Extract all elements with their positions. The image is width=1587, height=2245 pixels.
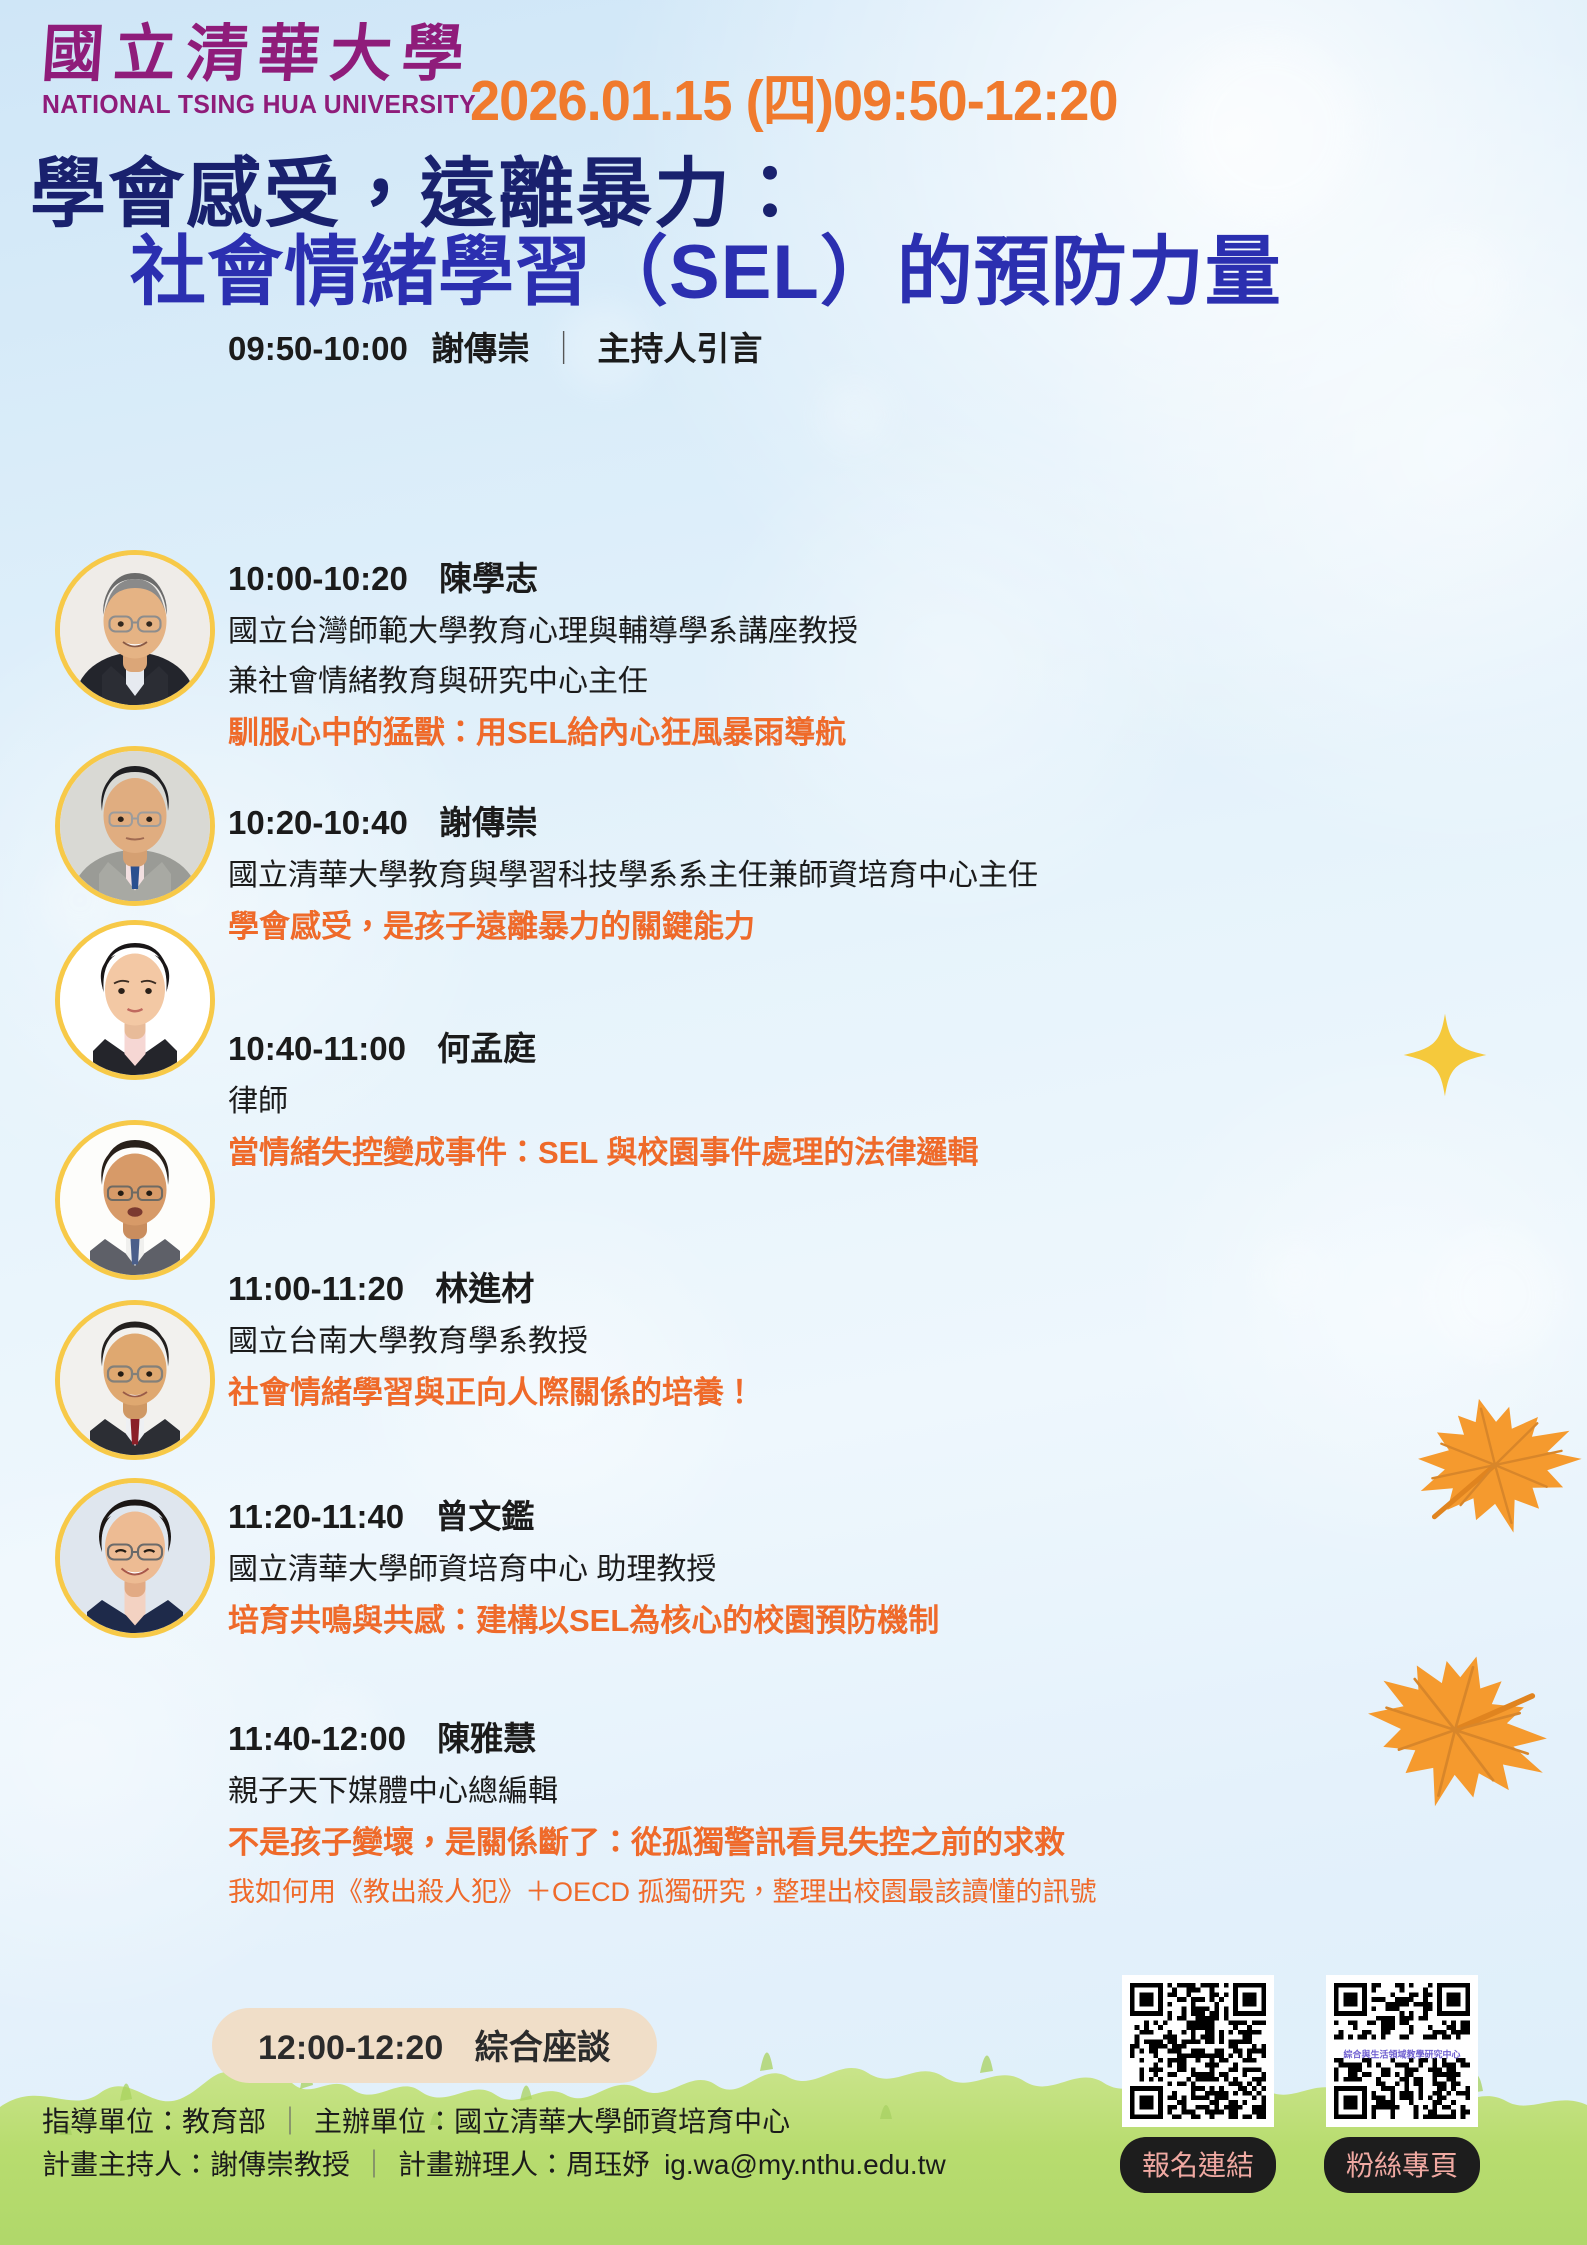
university-logo-english: NATIONAL TSING HUA UNIVERSITY (42, 91, 449, 120)
sparkle-icon (1400, 1010, 1490, 1100)
portrait-tseng-wen-chien (55, 1300, 215, 1460)
session-time: 10:40-11:00 (228, 1030, 406, 1067)
session-text-block: 11:20-11:40 曾文鑑 國立清華大學師資培育中心 助理教授 培育共鳴與共… (228, 1490, 939, 1640)
portrait-lin-chin-tsai (55, 1120, 215, 1280)
registration-link-button[interactable]: 報名連結 (1120, 2137, 1276, 2193)
session-text-block: 10:40-11:00 何孟庭 律師 當情緒失控變成事件：SEL 與校園事件處理… (228, 1022, 978, 1172)
bokeh-circle (1400, 230, 1510, 340)
footer-separator: ｜ (266, 2106, 314, 2137)
bokeh-circle (820, 380, 890, 450)
session-subtopic: 我如何用《教出殺人犯》＋OECD 孤獨研究，整理出校園最該讀懂的訊號 (228, 1870, 1097, 1909)
session-topic: 培育共鳴與共感：建構以SEL為核心的校園預防機制 (228, 1595, 939, 1640)
panel-label: 綜合座談 (453, 2029, 611, 2067)
session-time: 10:00-10:20 (228, 560, 408, 597)
event-datetime: 2026.01.15 (四)09:50-12:20 (470, 55, 1118, 137)
opening-remarks-row: 09:50-10:00 謝傳崇 ｜ 主持人引言 (228, 322, 762, 370)
qr-code-registration[interactable] (1122, 1975, 1274, 2127)
footer-row-contacts: 計畫主持人：謝傳崇教授｜計畫辦理人：周珏妤ig.wa@my.nthu.edu.t… (42, 2143, 946, 2186)
project-leader-value: 謝傳崇教授 (210, 2149, 350, 2180)
opening-time: 09:50-10:00 (228, 330, 408, 367)
session-topic: 當情緒失控變成事件：SEL 與校園事件處理的法律邏輯 (228, 1127, 978, 1172)
qr-code-area: 報名連結 綜合與生活領域教學研究中心 粉絲專頁 (1120, 1975, 1480, 2193)
session-time-speaker: 11:40-12:00 陳雅慧 (228, 1712, 1097, 1760)
bokeh-circle (1180, 40, 1360, 220)
session-time-speaker: 11:00-11:20 林進材 (228, 1262, 755, 1310)
session-topic: 馴服心中的猛獸：用SEL給內心狂風暴雨導航 (228, 707, 858, 752)
bokeh-circle (1430, 1230, 1560, 1360)
project-leader-label: 計畫主持人： (42, 2149, 210, 2180)
portrait-chen-hsueh-chih (55, 550, 215, 710)
session-topic: 學會感受，是孩子遠離暴力的關鍵能力 (228, 901, 1038, 946)
qr-code-image (1130, 1983, 1266, 2119)
session-speaker: 曾文鑑 (413, 1498, 534, 1535)
panel-discussion-pill: 12:00-12:20 綜合座談 (212, 2008, 657, 2083)
bokeh-circle (1260, 1240, 1330, 1310)
session-time: 11:20-11:40 (228, 1498, 404, 1535)
session-speaker: 陳學志 (417, 560, 538, 597)
session-time-speaker: 10:40-11:00 何孟庭 (228, 1022, 978, 1070)
session-speaker: 謝傳崇 (417, 804, 538, 841)
session-affiliation-line1: 國立台南大學教育學系教授 (228, 1316, 755, 1360)
session-speaker: 陳雅慧 (415, 1720, 536, 1757)
session-text-block: 10:00-10:20 陳學志 國立台灣師範大學教育心理與輔導學系講座教授 兼社… (228, 552, 858, 752)
session-speaker: 何孟庭 (415, 1030, 536, 1067)
project-coordinator-value: 周珏妤 (566, 2149, 650, 2180)
session-text-block: 10:20-10:40 謝傳崇 國立清華大學教育與學習科技學系系主任兼師資培育中… (228, 796, 1038, 946)
poster-title-line2: 社會情緒學習（SEL）的預防力量 (130, 210, 1282, 320)
opening-separator: ｜ (539, 330, 588, 367)
qr-item-registration[interactable]: 報名連結 (1120, 1975, 1276, 2193)
host-unit-label: 主辦單位： (314, 2106, 454, 2137)
opening-role: 主持人引言 (597, 330, 762, 367)
session-affiliation-line1: 國立清華大學教育與學習科技學系系主任兼師資培育中心主任 (228, 850, 1038, 894)
portrait-image (60, 751, 210, 901)
advisory-unit-label: 指導單位： (42, 2106, 182, 2137)
host-unit-value: 國立清華大學師資培育中心 (454, 2106, 790, 2137)
portrait-ho-meng-ting (55, 920, 215, 1080)
opening-speaker: 謝傳崇 (417, 330, 530, 367)
portrait-image (60, 925, 210, 1075)
session-time-speaker: 10:00-10:20 陳學志 (228, 552, 858, 600)
maple-leaf-icon (1340, 1640, 1570, 1820)
session-affiliation-line1: 律師 (228, 1076, 978, 1120)
session-time-speaker: 10:20-10:40 謝傳崇 (228, 796, 1038, 844)
portrait-image (60, 1483, 210, 1633)
maple-leaf-icon (1395, 1385, 1587, 1545)
portrait-image (60, 1305, 210, 1455)
session-affiliation-line1: 國立清華大學師資培育中心 助理教授 (228, 1544, 939, 1588)
portrait-hsieh-chuan-chung (55, 746, 215, 906)
university-logo-chinese: 國立清華大學 (40, 22, 464, 85)
university-logo: 國立清華大學 NATIONAL TSING HUA UNIVERSITY (42, 22, 462, 120)
session-topic: 社會情緒學習與正向人際關係的培養！ (228, 1367, 755, 1412)
project-coordinator-label: 計畫辦理人： (398, 2149, 566, 2180)
session-affiliation-line2: 兼社會情緒教育與研究中心主任 (228, 656, 858, 700)
footer-separator: ｜ (350, 2149, 398, 2180)
poster-canvas: 國立清華大學 NATIONAL TSING HUA UNIVERSITY 202… (0, 0, 1587, 2245)
session-speaker: 林進材 (413, 1270, 534, 1307)
session-time: 11:00-11:20 (228, 1270, 404, 1307)
footer-credits: 指導單位：教育部｜主辦單位：國立清華大學師資培育中心 計畫主持人：謝傳崇教授｜計… (42, 2100, 946, 2187)
fanpage-link-button[interactable]: 粉絲專頁 (1324, 2137, 1480, 2193)
qr-code-fanpage[interactable]: 綜合與生活領域教學研究中心 (1326, 1975, 1478, 2127)
qr-center-label: 綜合與生活領域教學研究中心 (1326, 2048, 1478, 2061)
footer-row-organizers: 指導單位：教育部｜主辦單位：國立清華大學師資培育中心 (42, 2100, 946, 2143)
session-topic: 不是孩子變壞，是關係斷了：從孤獨警訊看見失控之前的求救 (228, 1817, 1097, 1862)
session-time: 10:20-10:40 (228, 804, 408, 841)
session-time: 11:40-12:00 (228, 1720, 406, 1757)
session-affiliation-line1: 親子天下媒體中心總編輯 (228, 1766, 1097, 1810)
portrait-image (60, 1125, 210, 1275)
portrait-image (60, 555, 210, 705)
panel-time: 12:00-12:20 (258, 2029, 443, 2067)
session-text-block: 11:40-12:00 陳雅慧 親子天下媒體中心總編輯 不是孩子變壞，是關係斷了… (228, 1712, 1097, 1909)
portrait-chen-ya-hui (55, 1478, 215, 1638)
qr-item-fanpage[interactable]: 綜合與生活領域教學研究中心 粉絲專頁 (1324, 1975, 1480, 2193)
session-time-speaker: 11:20-11:40 曾文鑑 (228, 1490, 939, 1538)
session-affiliation-line1: 國立台灣師範大學教育心理與輔導學系講座教授 (228, 606, 858, 650)
session-text-block: 11:00-11:20 林進材 國立台南大學教育學系教授 社會情緒學習與正向人際… (228, 1262, 755, 1412)
advisory-unit-value: 教育部 (182, 2106, 266, 2137)
contact-email: ig.wa@my.nthu.edu.tw (650, 2149, 946, 2180)
